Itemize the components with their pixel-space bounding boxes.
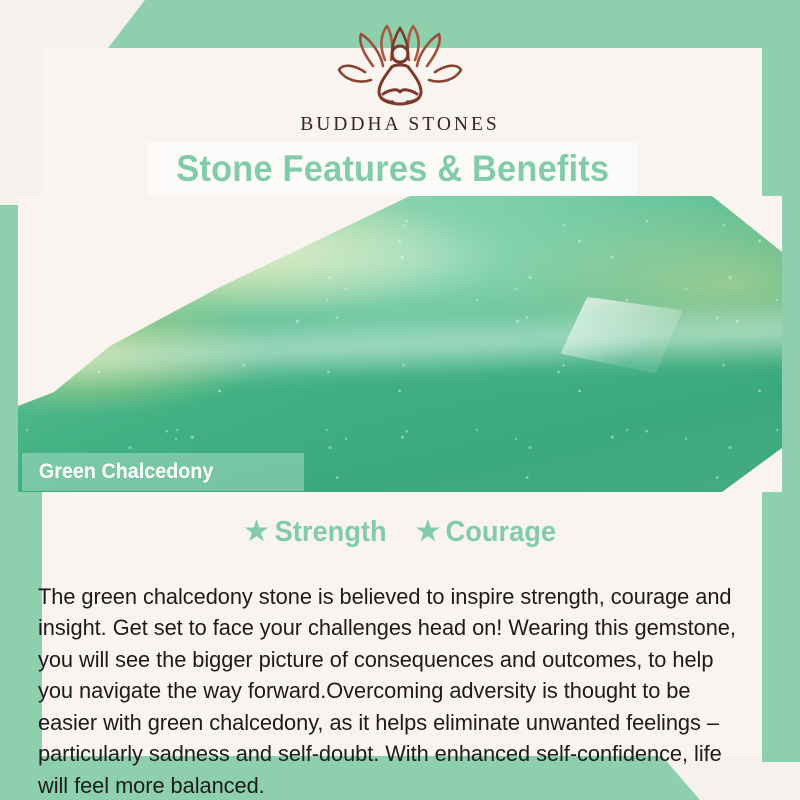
- keyword-courage-label: Courage: [446, 516, 557, 549]
- brand-name: BUDDHA STONES: [0, 114, 800, 136]
- page-title: Stone Features & Benefits: [176, 148, 609, 190]
- stone-photo: [18, 196, 782, 492]
- body-paragraph: The green chalcedony stone is believed t…: [38, 581, 749, 800]
- stone-caption-band: Green Chalcedony: [22, 453, 304, 491]
- keyword-courage: ★ Courage: [416, 516, 560, 549]
- star-icon: ★: [244, 518, 268, 545]
- keyword-strength: ★ Strength: [244, 516, 389, 549]
- poster-canvas: BUDDHA STONES Stone Features & Benefits …: [0, 0, 800, 800]
- keyword-strength-label: Strength: [274, 516, 386, 549]
- stone-caption-label: Green Chalcedony: [22, 460, 213, 484]
- brand-logo: BUDDHA STONES: [0, 22, 800, 136]
- title-banner: Stone Features & Benefits: [148, 142, 637, 196]
- keywords-row: ★ Strength ★ Courage: [42, 516, 762, 549]
- lotus-meditation-icon: [335, 22, 465, 110]
- star-icon: ★: [416, 518, 440, 545]
